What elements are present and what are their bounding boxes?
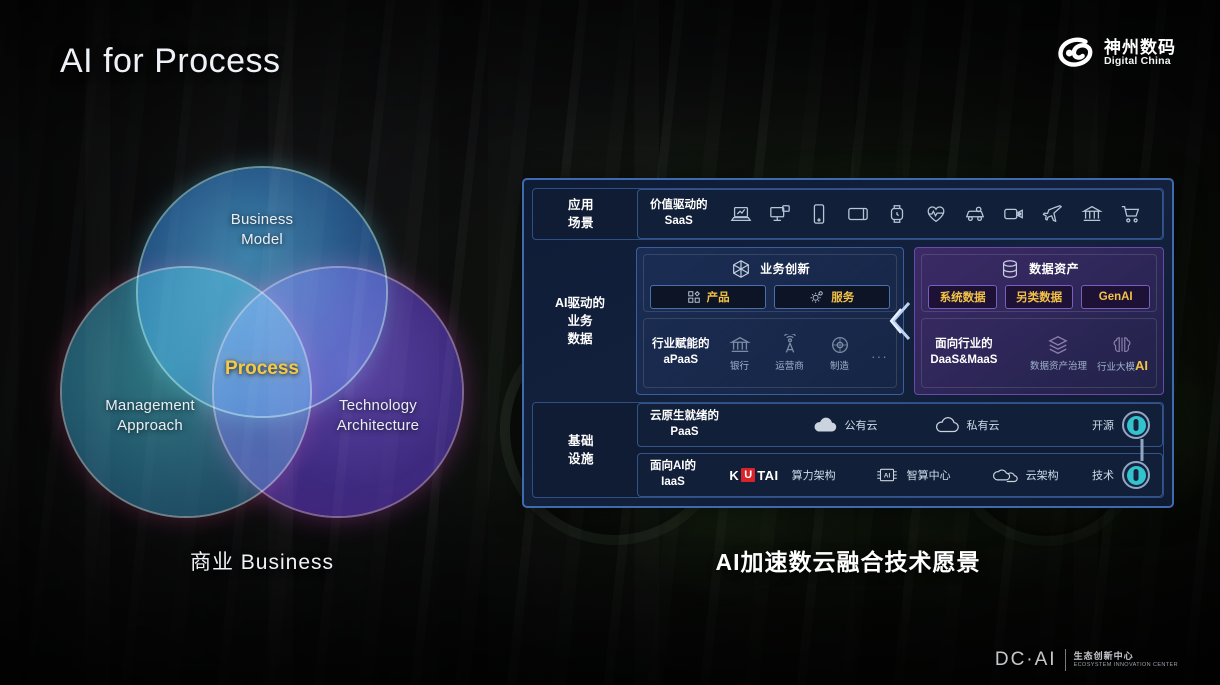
chip-product[interactable]: 产品 <box>650 285 766 309</box>
heart-pulse-icon <box>925 203 947 225</box>
band-label-line: AI驱动的 <box>555 296 605 310</box>
mini-bank: 银行 <box>720 334 760 372</box>
brand-name-en: Digital China <box>1104 56 1176 67</box>
band-label-infrastructure: 基础 设施 <box>533 403 629 497</box>
kutai-logo: K U TAI 算力架构 <box>729 467 835 483</box>
card-daas-maas: 面向行业的 DaaS&MaaS 数据资产治理 行业大模AI <box>921 318 1157 388</box>
card-title-data-assets: 数据资产 <box>1029 260 1079 277</box>
chip-label: 产品 <box>707 289 730 305</box>
keyword-line: 价值驱动的 <box>650 199 708 211</box>
card-title-business-innovation: 业务创新 <box>760 260 810 277</box>
cloud-multi-icon <box>993 465 1019 485</box>
keyword-line: IaaS <box>661 476 685 488</box>
mini-label: 运营商 <box>775 358 804 372</box>
item-label: 智算中心 <box>907 467 951 483</box>
band-label-line: 业务 <box>567 314 592 328</box>
row-ai-iaas: 面向AI的 IaaS K U TAI 算力架构 AI 智算 <box>637 453 1163 497</box>
airplane-icon <box>1042 203 1064 225</box>
tag-label: 技术 <box>1092 467 1114 483</box>
chip-label: 系统数据 <box>940 289 986 305</box>
band-ai-driven-business-data: AI驱动的 业务 数据 业务创新 产品 <box>532 247 1164 395</box>
venn-label-business-model: Business Model <box>202 210 322 250</box>
architecture-panel: 应用 场景 价值驱动的 SaaS <box>522 178 1174 508</box>
footer-name-en: ECOSYSTEM INNOVATION CENTER <box>1074 662 1178 668</box>
chip-genai[interactable]: GenAI <box>1081 285 1150 309</box>
venn-label-line: Business <box>202 210 322 230</box>
cube-network-icon <box>730 258 752 280</box>
tag-technology: 技术 <box>1092 461 1150 489</box>
venn-label-line: Technology <box>308 396 448 416</box>
row-cloud-native-paas: 云原生就绪的 PaaS 公有云 私有云 开源 <box>637 403 1163 447</box>
chip-label: 另类数据 <box>1016 289 1062 305</box>
kutai-text-a: K <box>729 468 739 483</box>
footer-logo: DC·AI 生态创新中心 ECOSYSTEM INNOVATION CENTER <box>995 649 1178 671</box>
mini-label: 数据资产治理 <box>1030 358 1087 372</box>
laptop-chart-icon <box>730 203 752 225</box>
item-cloud-architecture: 云架构 <box>993 465 1059 485</box>
band-label-line: 设施 <box>568 452 594 466</box>
card-apaas: 行业赋能的 aPaaS 银行 运营商 制造 <box>643 318 897 388</box>
item-label: 公有云 <box>845 417 878 433</box>
caption-business: 商业 Business <box>62 546 462 576</box>
tag-opensource: 开源 <box>1092 411 1150 439</box>
venn-label-line: Management <box>80 396 220 416</box>
tag-label: 开源 <box>1092 417 1114 433</box>
video-camera-icon <box>1003 203 1025 225</box>
digital-china-spiral-logo <box>1057 36 1095 70</box>
footer-dc-ai-text: DC·AI <box>995 649 1057 671</box>
mini-manufacturing: 制造 <box>820 334 860 372</box>
venn-center-label-process: Process <box>202 358 322 380</box>
band-label-line: 场景 <box>568 216 594 230</box>
car-icon <box>964 203 986 225</box>
mini-label-text: 行业大模 <box>1097 362 1135 373</box>
band-label-line: 应用 <box>568 198 594 212</box>
shopping-cart-icon <box>1120 203 1142 225</box>
band-application-scenarios: 应用 场景 价值驱动的 SaaS <box>532 188 1164 240</box>
gears-icon <box>810 289 825 304</box>
bank-icon <box>729 334 751 356</box>
slide-canvas: AI for Process 神州数码 Digital China Busine… <box>0 0 1220 685</box>
venn-label-line: Architecture <box>308 416 448 436</box>
band-label-line: 数据 <box>567 332 592 346</box>
band-label-ai-driven-business-data: AI驱动的 业务 数据 <box>532 247 628 395</box>
mini-label: 制造 <box>830 358 849 372</box>
cloud-filled-icon <box>812 415 838 435</box>
tablet-icon <box>847 203 869 225</box>
database-icon <box>999 258 1021 280</box>
mini-label-ai: AI <box>1135 358 1148 373</box>
card-business-innovation: 业务创新 产品 服务 <box>643 254 897 312</box>
more-ellipsis: ... <box>872 346 889 361</box>
smartwatch-icon <box>886 203 908 225</box>
row-value-driven-saas: 价值驱动的 SaaS <box>637 189 1163 239</box>
item-ai-datacenter: AI 智算中心 <box>874 465 951 485</box>
item-private-cloud: 私有云 <box>934 415 1000 435</box>
cloud-outline-icon <box>934 415 960 435</box>
venn-label-management-approach: Management Approach <box>80 396 220 436</box>
venn-label-line: Approach <box>80 416 220 436</box>
band-label-line: 基础 <box>568 434 594 448</box>
keyword-line: 面向AI的 <box>650 460 696 472</box>
smartphone-icon <box>808 203 830 225</box>
keyword-daas-maas: 面向行业的 DaaS&MaaS <box>930 337 997 368</box>
column-business-innovation: 业务创新 产品 服务 <box>636 247 904 395</box>
item-public-cloud: 公有云 <box>812 415 878 435</box>
opensource-badge-icon <box>1122 411 1150 439</box>
mini-carrier: 运营商 <box>770 334 810 372</box>
chip-label: 服务 <box>831 289 854 305</box>
kutai-text-b: TAI <box>757 468 778 483</box>
factory-gear-icon <box>829 334 851 356</box>
brand-name-cn: 神州数码 <box>1104 39 1176 57</box>
caption-ai-cloud-vision: AI加速数云融合技术愿景 <box>522 543 1174 577</box>
keyword-value-driven-saas: 价值驱动的 SaaS <box>650 198 708 229</box>
blocks-icon <box>687 290 701 304</box>
keyword-line: aPaaS <box>663 354 698 366</box>
technology-badge-icon <box>1122 461 1150 489</box>
footer-name-cn: 生态创新中心 <box>1074 652 1178 662</box>
item-label: 私有云 <box>967 417 1000 433</box>
page-title: AI for Process <box>60 42 281 81</box>
chip-label: GenAI <box>1099 291 1133 303</box>
keyword-line: SaaS <box>665 215 693 227</box>
keyword-line: 行业赋能的 <box>652 338 710 350</box>
antenna-signal-icon <box>779 334 801 356</box>
card-data-assets: 数据资产 系统数据 另类数据 GenAI <box>921 254 1157 312</box>
band-label-application-scenarios: 应用 场景 <box>533 189 629 239</box>
venn-circle-technology-architecture <box>214 268 462 516</box>
bank-icon <box>1081 203 1103 225</box>
venn-diagram: Business Model Management Approach Techn… <box>62 168 462 520</box>
mini-industry-llm: 行业大模AI <box>1097 334 1148 373</box>
mini-label: 行业大模AI <box>1097 358 1148 373</box>
item-label: 云架构 <box>1026 467 1059 483</box>
ai-datacenter-icon: AI <box>874 465 900 485</box>
keyword-ai-iaas: 面向AI的 IaaS <box>650 459 696 490</box>
svg-text:AI: AI <box>883 472 890 479</box>
band-infrastructure: 基础 设施 云原生就绪的 PaaS 公有云 <box>532 402 1164 498</box>
footer-divider <box>1065 649 1066 671</box>
keyword-line: PaaS <box>670 426 698 438</box>
chip-alternative-data[interactable]: 另类数据 <box>1005 285 1074 309</box>
keyword-cloud-native-paas: 云原生就绪的 PaaS <box>650 409 719 440</box>
column-data-assets: 数据资产 系统数据 另类数据 GenAI 面向行业的 DaaS&MaaS <box>914 247 1164 395</box>
keyword-apaas: 行业赋能的 aPaaS <box>652 337 710 368</box>
data-layers-icon <box>1047 334 1069 356</box>
keyword-line: 面向行业的 <box>935 338 993 350</box>
keyword-line: 云原生就绪的 <box>650 410 719 422</box>
chip-service[interactable]: 服务 <box>774 285 890 309</box>
scenario-icon-strip <box>722 203 1151 225</box>
brain-circuit-icon <box>1111 334 1133 356</box>
brand-logo: 神州数码 Digital China <box>1057 36 1176 70</box>
chip-system-data[interactable]: 系统数据 <box>928 285 997 309</box>
mini-data-governance: 数据资产治理 <box>1030 334 1087 372</box>
badge-connector-line <box>1141 439 1144 461</box>
venn-label-technology-architecture: Technology Architecture <box>308 396 448 436</box>
venn-label-line: Model <box>202 230 322 250</box>
kutai-label: 算力架构 <box>792 467 836 483</box>
desktop-monitor-icon <box>769 203 791 225</box>
keyword-line: DaaS&MaaS <box>930 354 997 366</box>
mini-label: 银行 <box>730 358 749 372</box>
kutai-box: U <box>741 468 755 482</box>
